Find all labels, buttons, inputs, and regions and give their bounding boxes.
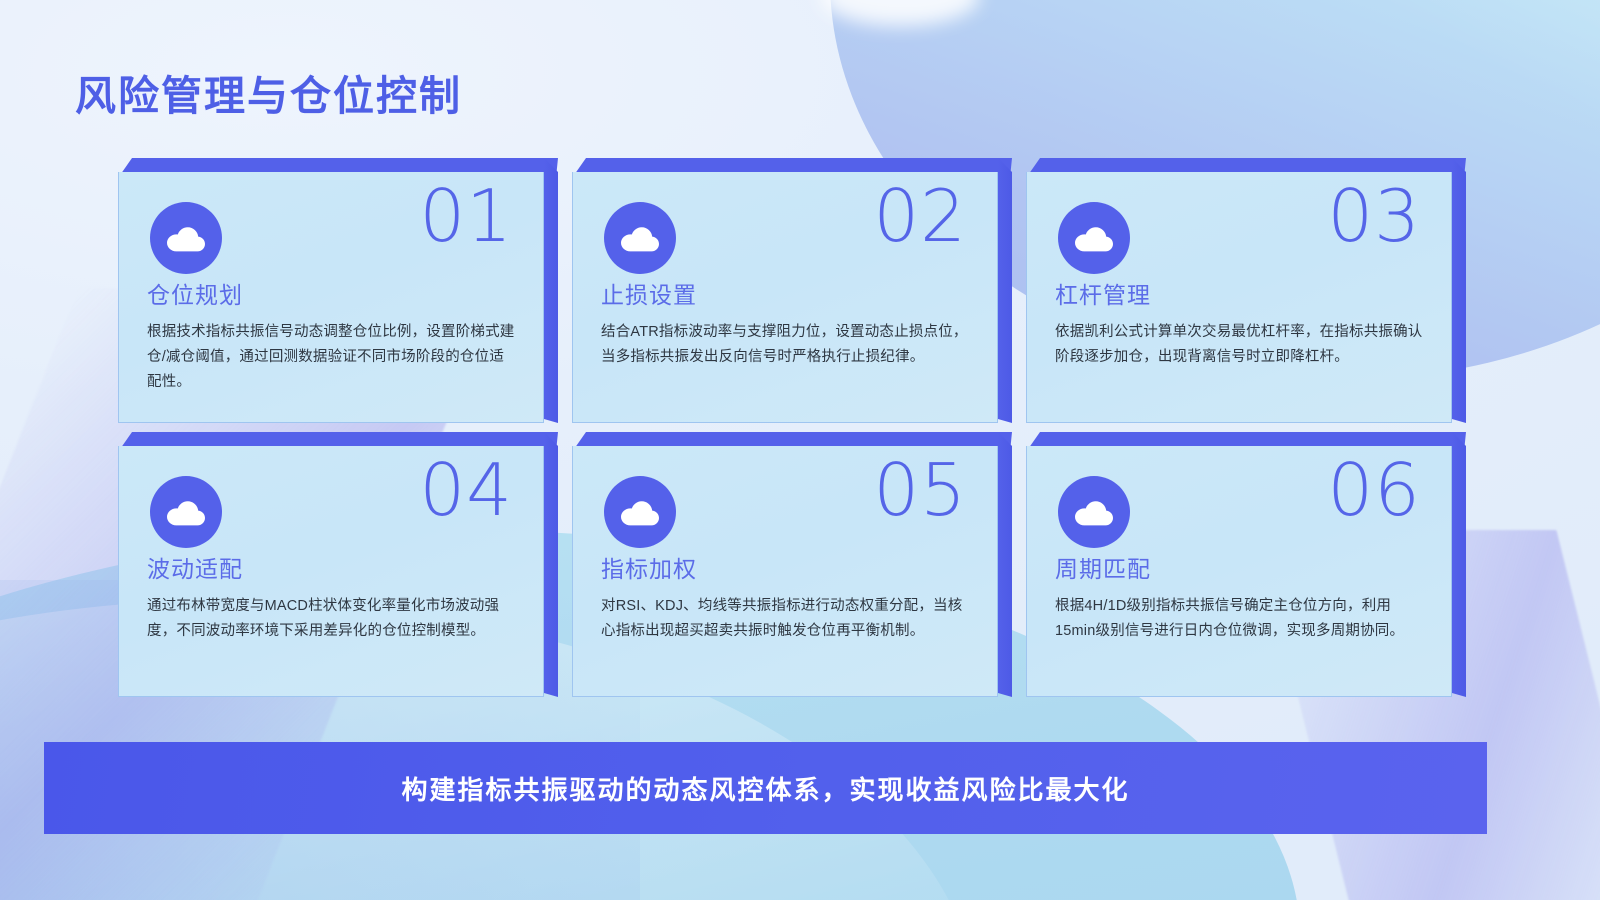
card-number: 02 <box>873 180 967 252</box>
card-number: 04 <box>419 454 513 526</box>
summary-banner: 构建指标共振驱动的动态风控体系，实现收益风险比最大化 <box>44 742 1487 834</box>
cloud-icon <box>150 476 222 548</box>
card-face: 02 止损设置 结合ATR指标波动率与支撑阻力位，设置动态止损点位，当多指标共振… <box>572 172 998 423</box>
page-title: 风险管理与仓位控制 <box>75 62 462 122</box>
card-header: 04 <box>147 472 515 556</box>
card-3d-side-face <box>544 158 558 423</box>
decorative-glow-top <box>820 0 980 26</box>
card-description: 根据技术指标共振信号动态调整仓位比例，设置阶梯式建仓/减仓阈值，通过回测数据验证… <box>147 320 515 395</box>
cloud-icon <box>604 202 676 274</box>
card-description: 对RSI、KDJ、均线等共振指标进行动态权重分配，当核心指标出现超买超卖共振时触… <box>601 594 969 644</box>
card-header: 05 <box>601 472 969 556</box>
card-header: 06 <box>1055 472 1423 556</box>
card-3d-side-face <box>544 432 558 697</box>
slide-root: 风险管理与仓位控制 01 仓位规划 根据技术指标共振信号动态调整仓位比例，设置阶… <box>0 0 1600 900</box>
card-face: 05 指标加权 对RSI、KDJ、均线等共振指标进行动态权重分配，当核心指标出现… <box>572 446 998 697</box>
cloud-icon <box>1058 476 1130 548</box>
card-number: 06 <box>1327 454 1421 526</box>
feature-card-05[interactable]: 05 指标加权 对RSI、KDJ、均线等共振指标进行动态权重分配，当核心指标出现… <box>572 432 1012 697</box>
cloud-icon <box>1058 202 1130 274</box>
feature-card-03[interactable]: 03 杠杆管理 依据凯利公式计算单次交易最优杠杆率，在指标共振确认阶段逐步加仓，… <box>1026 158 1466 423</box>
card-3d-side-face <box>1452 432 1466 697</box>
card-face: 04 波动适配 通过布林带宽度与MACD柱状体变化率量化市场波动强度，不同波动率… <box>118 446 544 697</box>
feature-card-06[interactable]: 06 周期匹配 根据4H/1D级别指标共振信号确定主仓位方向，利用15min级别… <box>1026 432 1466 697</box>
card-face: 03 杠杆管理 依据凯利公式计算单次交易最优杠杆率，在指标共振确认阶段逐步加仓，… <box>1026 172 1452 423</box>
card-header: 03 <box>1055 198 1423 282</box>
card-3d-side-face <box>1452 158 1466 423</box>
card-face: 01 仓位规划 根据技术指标共振信号动态调整仓位比例，设置阶梯式建仓/减仓阈值，… <box>118 172 544 423</box>
summary-banner-text: 构建指标共振驱动的动态风控体系，实现收益风险比最大化 <box>401 770 1129 807</box>
card-header: 02 <box>601 198 969 282</box>
card-face: 06 周期匹配 根据4H/1D级别指标共振信号确定主仓位方向，利用15min级别… <box>1026 446 1452 697</box>
cloud-icon <box>604 476 676 548</box>
card-description: 结合ATR指标波动率与支撑阻力位，设置动态止损点位，当多指标共振发出反向信号时严… <box>601 320 969 370</box>
card-description: 通过布林带宽度与MACD柱状体变化率量化市场波动强度，不同波动率环境下采用差异化… <box>147 594 515 644</box>
card-3d-side-face <box>998 432 1012 697</box>
card-number: 01 <box>419 180 513 252</box>
card-grid: 01 仓位规划 根据技术指标共振信号动态调整仓位比例，设置阶梯式建仓/减仓阈值，… <box>118 158 1466 697</box>
card-number: 03 <box>1327 180 1421 252</box>
feature-card-02[interactable]: 02 止损设置 结合ATR指标波动率与支撑阻力位，设置动态止损点位，当多指标共振… <box>572 158 1012 423</box>
feature-card-01[interactable]: 01 仓位规划 根据技术指标共振信号动态调整仓位比例，设置阶梯式建仓/减仓阈值，… <box>118 158 558 423</box>
card-number: 05 <box>873 454 967 526</box>
card-header: 01 <box>147 198 515 282</box>
card-3d-side-face <box>998 158 1012 423</box>
cloud-icon <box>150 202 222 274</box>
card-description: 依据凯利公式计算单次交易最优杠杆率，在指标共振确认阶段逐步加仓，出现背离信号时立… <box>1055 320 1423 370</box>
card-description: 根据4H/1D级别指标共振信号确定主仓位方向，利用15min级别信号进行日内仓位… <box>1055 594 1423 644</box>
feature-card-04[interactable]: 04 波动适配 通过布林带宽度与MACD柱状体变化率量化市场波动强度，不同波动率… <box>118 432 558 697</box>
